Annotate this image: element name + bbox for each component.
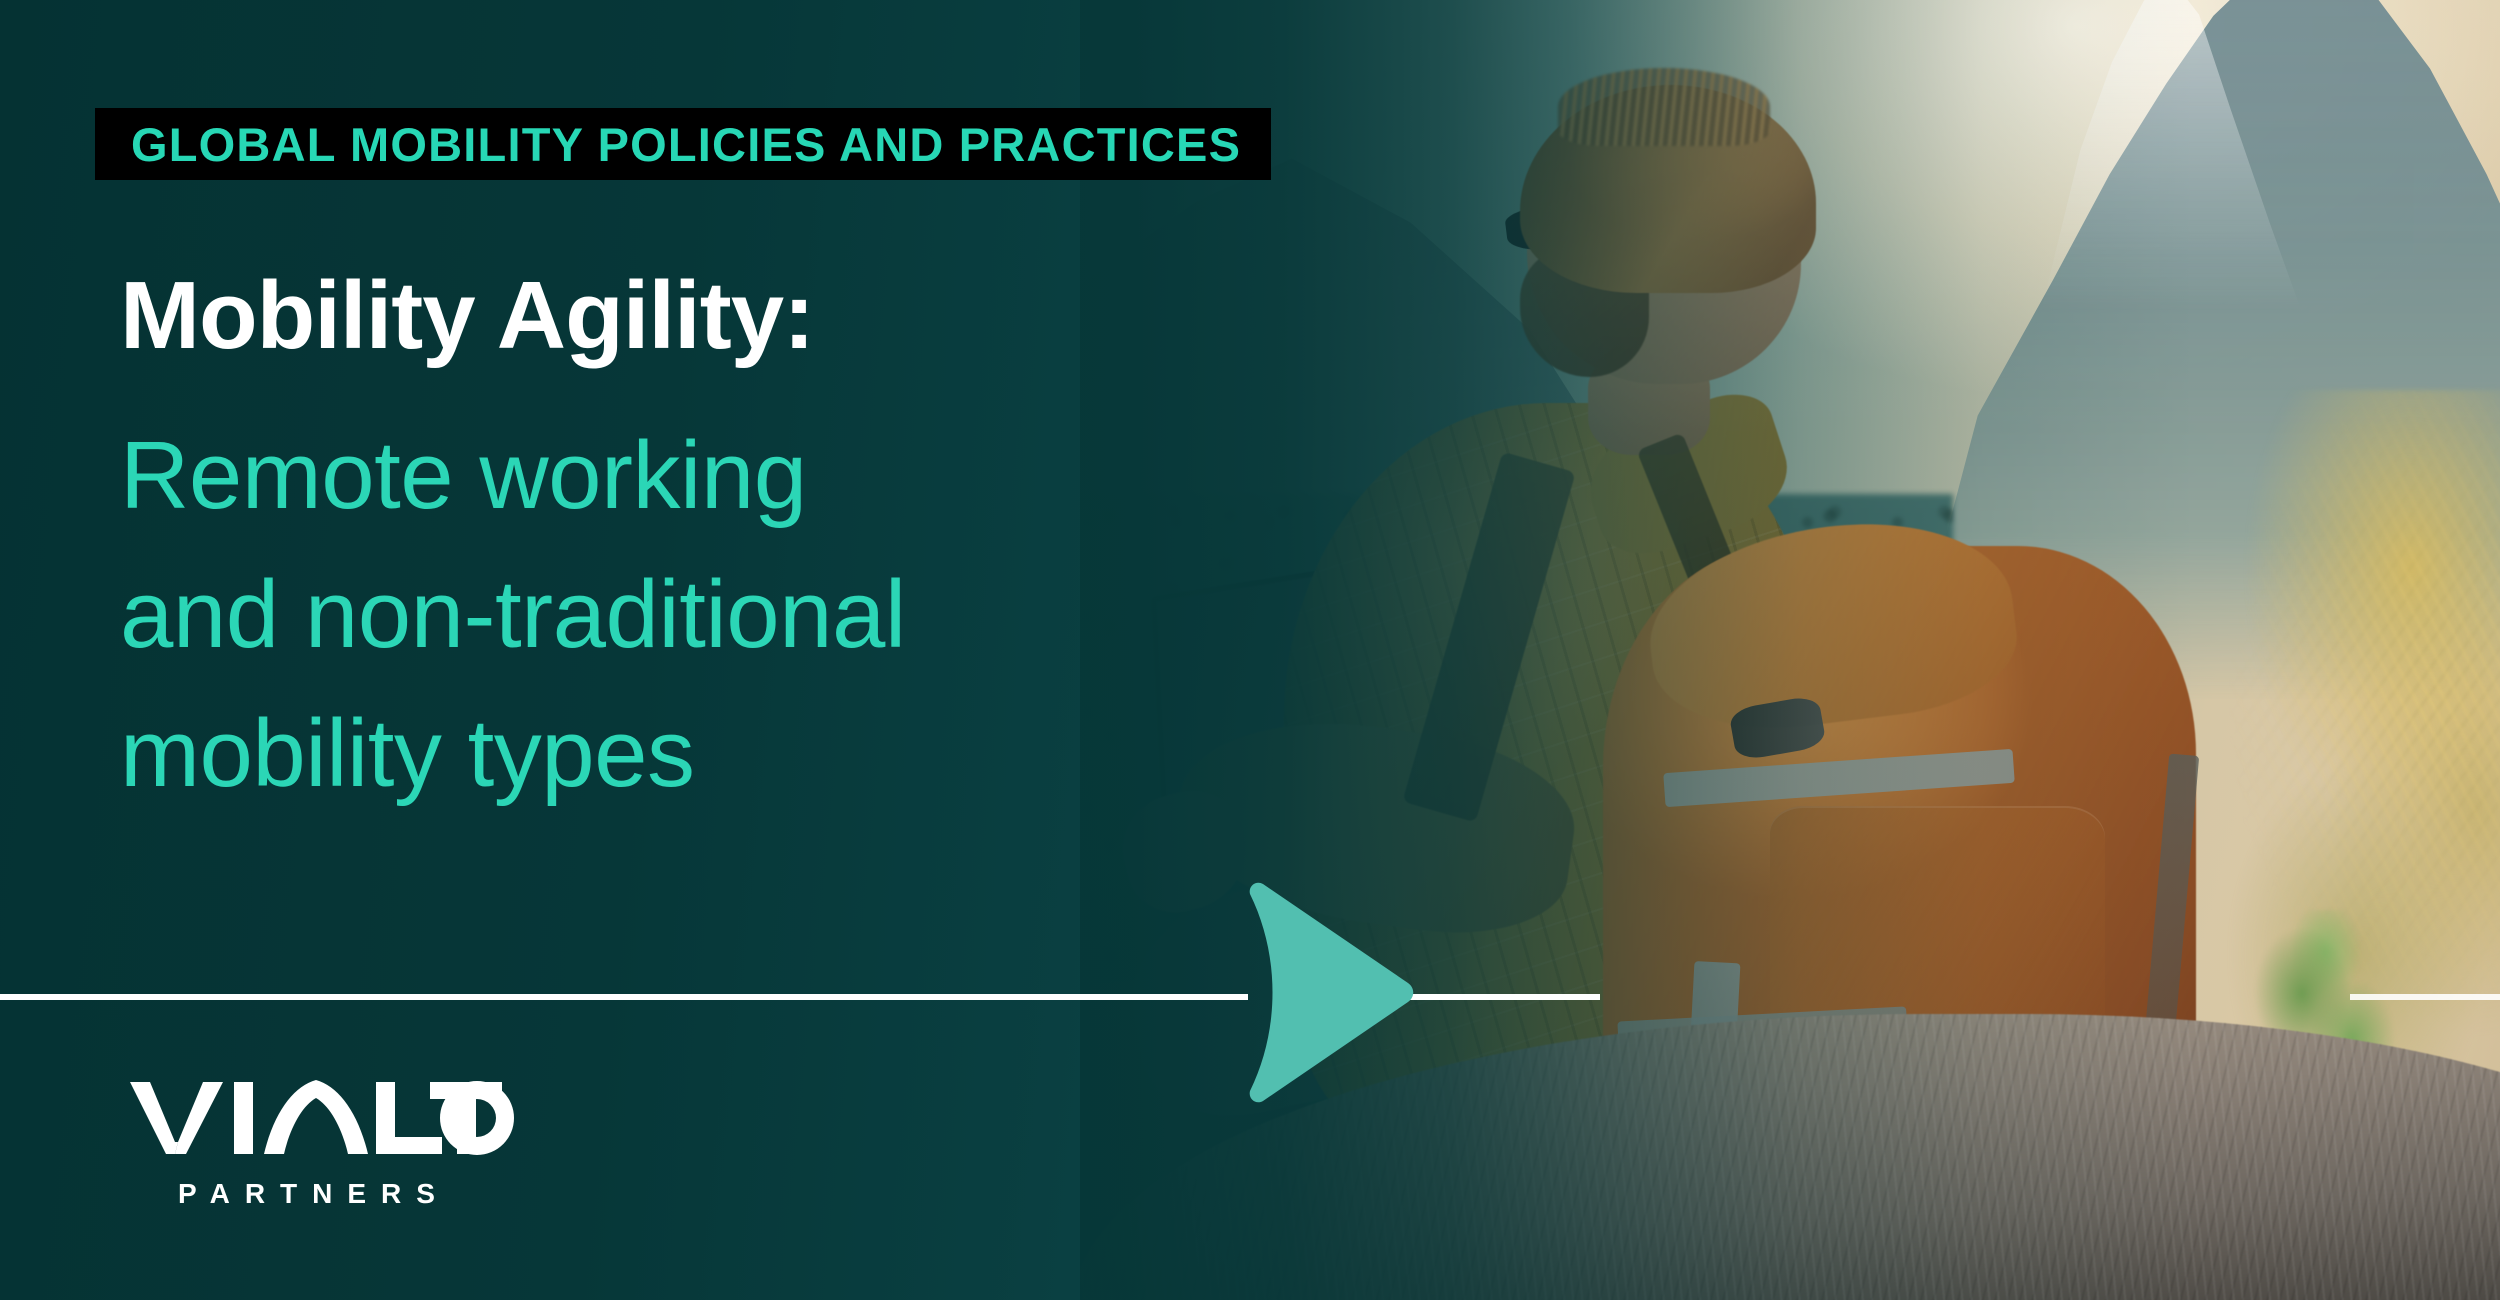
brand-descriptor: PARTNERS xyxy=(130,1180,530,1208)
divider-rule-left xyxy=(0,994,1248,1000)
subtitle-line-1: Remote working xyxy=(120,406,906,545)
chevron-right-arrow-icon xyxy=(1228,880,1418,1105)
eyebrow-label: GLOBAL MOBILITY POLICIES AND PRACTICES xyxy=(131,121,1241,168)
page-title: Mobility Agility: xyxy=(120,268,814,364)
hero-photo xyxy=(980,0,2500,1300)
page-subtitle: Remote working and non-traditional mobil… xyxy=(120,406,906,824)
subtitle-line-3: mobility types xyxy=(120,684,906,823)
brand-logo: PARTNERS xyxy=(130,1076,530,1208)
person-hair-tuft xyxy=(1558,68,1771,146)
eyebrow-band: GLOBAL MOBILITY POLICIES AND PRACTICES xyxy=(95,108,1271,180)
divider-rule-right xyxy=(1400,994,1600,1000)
subtitle-line-2: and non-traditional xyxy=(120,545,906,684)
vialto-wordmark xyxy=(130,1076,530,1162)
divider-rule-far-right xyxy=(2350,994,2500,1000)
promo-banner: GLOBAL MOBILITY POLICIES AND PRACTICES M… xyxy=(0,0,2500,1300)
